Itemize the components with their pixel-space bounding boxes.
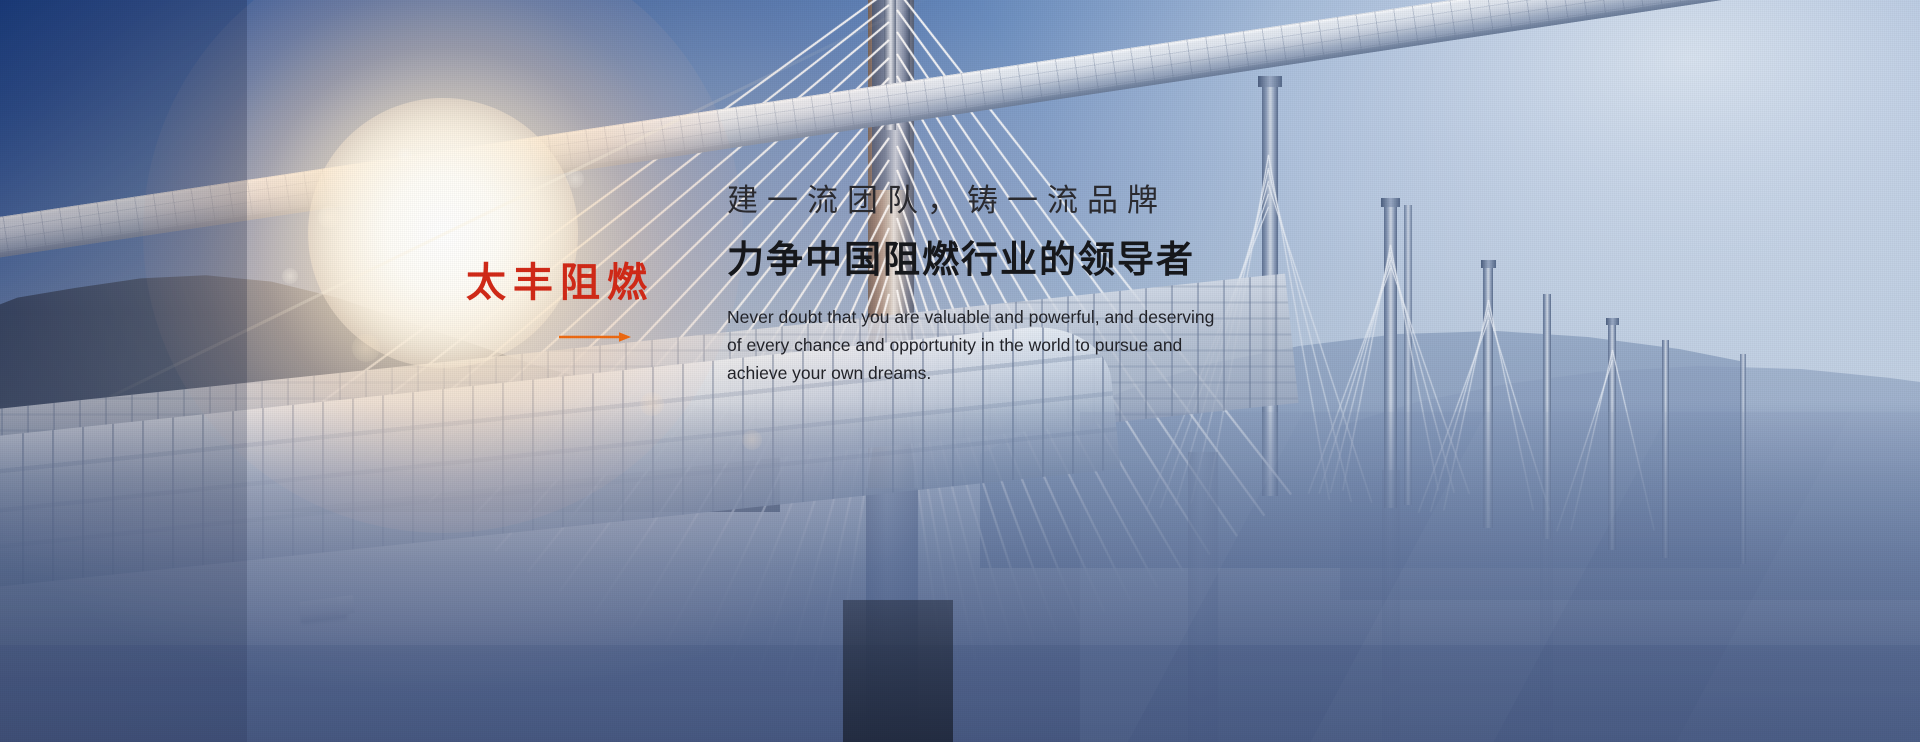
banner-content: 太丰阻燃 建一流团队，铸一流品牌 力争中国阻燃行业的领导者 Never doub…: [0, 0, 1920, 742]
subcopy-line-2: of every chance and opportunity in the w…: [727, 331, 1214, 359]
hero-banner: 太丰阻燃 建一流团队，铸一流品牌 力争中国阻燃行业的领导者 Never doub…: [0, 0, 1920, 742]
headline-primary: 建一流团队，铸一流品牌: [727, 186, 1214, 217]
subcopy-line-3: achieve your own dreams.: [727, 359, 1214, 387]
arrow-right-icon: [559, 331, 631, 343]
headline-secondary: 力争中国阻燃行业的领导者: [727, 241, 1214, 278]
subcopy-paragraph: Never doubt that you are valuable and po…: [727, 303, 1214, 387]
subcopy-line-1: Never doubt that you are valuable and po…: [727, 303, 1214, 331]
headline-block: 建一流团队，铸一流品牌 力争中国阻燃行业的领导者 Never doubt tha…: [727, 186, 1214, 387]
brand-logo-text: 太丰阻燃: [466, 263, 666, 303]
brand-logo[interactable]: 太丰阻燃: [466, 263, 666, 303]
